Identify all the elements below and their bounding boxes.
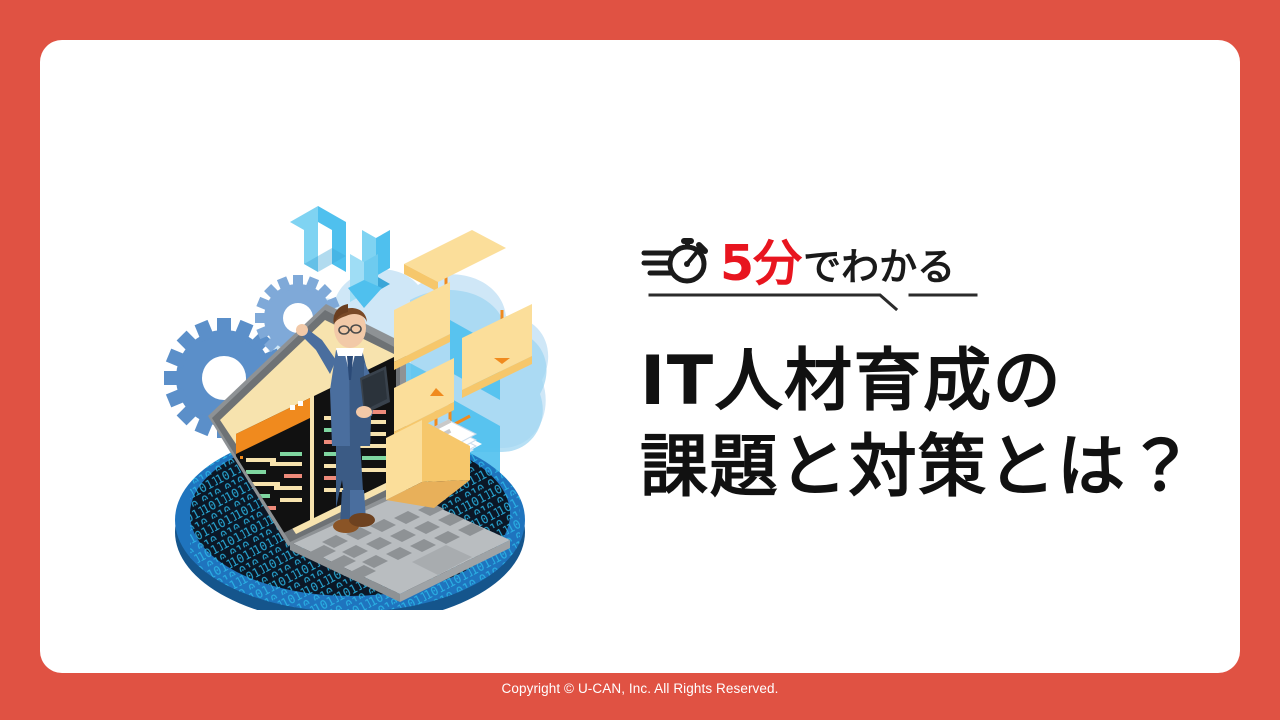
page-title: IT人材育成の 課題と対策とは？ <box>640 339 1260 512</box>
eyebrow-accent-text: 5分 <box>720 239 801 288</box>
arrow-up-icon <box>290 206 346 272</box>
slide-root: 1011 0101 <box>0 0 1280 720</box>
eyebrow-rest-text: でわかる <box>803 248 955 286</box>
isometric-it-training-illustration: 1011 0101 <box>150 190 590 610</box>
headline-line-2: 課題と対策とは？ <box>640 425 1260 511</box>
eyebrow-text: 5分 でわかる <box>720 239 955 288</box>
footer-copyright: Copyright © U-CAN, Inc. All Rights Reser… <box>0 681 1280 696</box>
headline-line-1: IT人材育成の <box>640 339 1260 425</box>
text-block: 5分 でわかる IT人材育成の 課題と対策とは？ <box>640 226 1260 512</box>
stopwatch-icon <box>640 232 716 288</box>
eyebrow-row: 5分 でわかる <box>640 226 1260 288</box>
content-card: 1011 0101 <box>40 40 1240 673</box>
eyebrow-underline-ribbon <box>648 289 978 311</box>
